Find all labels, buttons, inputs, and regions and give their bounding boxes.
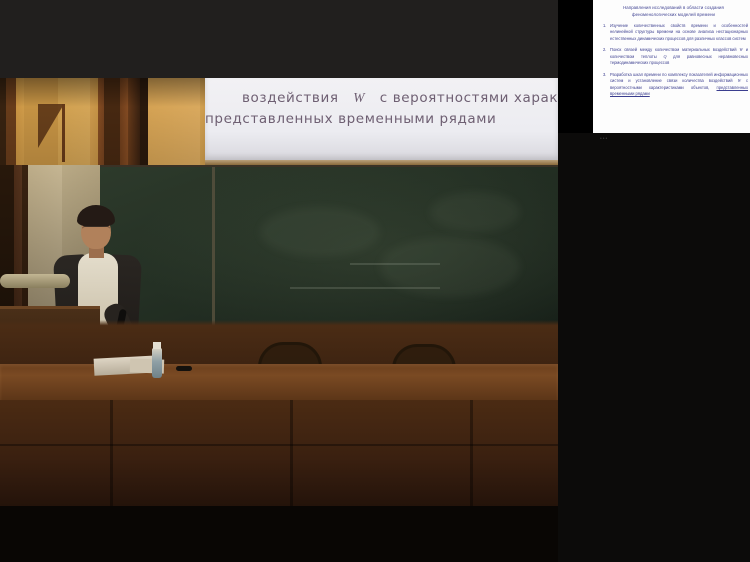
- wall-bracket-icon: [38, 104, 64, 148]
- chalkboard-smudge: [260, 207, 380, 257]
- glasses-icon: [82, 226, 110, 234]
- projected-slide-line-2: представленных временными рядами: [205, 111, 496, 127]
- slide-item-symbol-w: W: [738, 78, 741, 83]
- slide-item-text: Поиск связей между количеством материаль…: [610, 47, 748, 67]
- screen-root: воздействия W с вероятностями характерны…: [0, 0, 750, 562]
- slide-pane[interactable]: Направления исследований в области созда…: [593, 0, 750, 133]
- video-letterbox-bottom: [0, 506, 558, 562]
- video-player[interactable]: воздействия W с вероятностями характерны…: [0, 0, 558, 562]
- desk-pen: [176, 366, 192, 371]
- slide-item-symbol-w: W: [739, 47, 742, 52]
- slide-list-item: 1. Изучение количественных свойств време…: [593, 23, 750, 43]
- slide-item-number: 2.: [603, 47, 610, 54]
- slide-item-symbol-q: Q: [663, 54, 666, 59]
- desk-panel-seam: [470, 400, 473, 506]
- desk-panel-seam: [0, 444, 558, 446]
- desk-panel-seam: [290, 400, 293, 506]
- video-frame[interactable]: воздействия W с вероятностями характерны…: [0, 78, 558, 506]
- desk-surface: [0, 364, 558, 402]
- slide-page-marker: •••: [600, 136, 614, 140]
- projected-line1-symbol: W: [353, 90, 365, 105]
- projected-slide-line-1: воздействия W с вероятностями характерны…: [242, 90, 558, 106]
- slide-item-text-before: Разработка шкал времени по комплексу пок…: [610, 72, 748, 84]
- water-bottle: [152, 348, 162, 378]
- slide-item-text-before: Поиск связей между количеством материаль…: [610, 47, 737, 52]
- desk-front-panel: [0, 400, 558, 506]
- slide-item-number: 1.: [603, 23, 610, 30]
- chalkboard-panel-divider: [212, 167, 215, 327]
- chalkboard-chalk-mark: [290, 287, 440, 289]
- slide-item-text: Разработка шкал времени по комплексу пок…: [610, 72, 748, 99]
- slide-list-item: 3. Разработка шкал времени по комплексу …: [593, 72, 750, 99]
- slide-item-number: 3.: [603, 72, 610, 79]
- chalkboard-chalk-mark: [350, 263, 440, 265]
- water-bottle-cap: [153, 342, 161, 349]
- right-background: [558, 133, 750, 562]
- chalkboard-smudge: [430, 192, 520, 232]
- video-letterbox-top: [0, 0, 558, 78]
- slide-title: Направления исследований в области созда…: [593, 0, 750, 18]
- projected-line1-before: воздействия: [242, 90, 339, 106]
- slide-item-text: Изучение количественных свойств времени …: [610, 23, 748, 43]
- projected-line1-after: с вероятностями характерных со: [380, 90, 558, 106]
- rolled-poster: [0, 274, 70, 288]
- desk-panel-seam: [110, 400, 113, 506]
- wall-bracket-post: [62, 104, 65, 162]
- speaker-hair: [77, 205, 115, 227]
- projection-screen: воздействия W с вероятностями характерны…: [205, 78, 558, 160]
- slide-list-item: 2. Поиск связей между количеством матери…: [593, 47, 750, 67]
